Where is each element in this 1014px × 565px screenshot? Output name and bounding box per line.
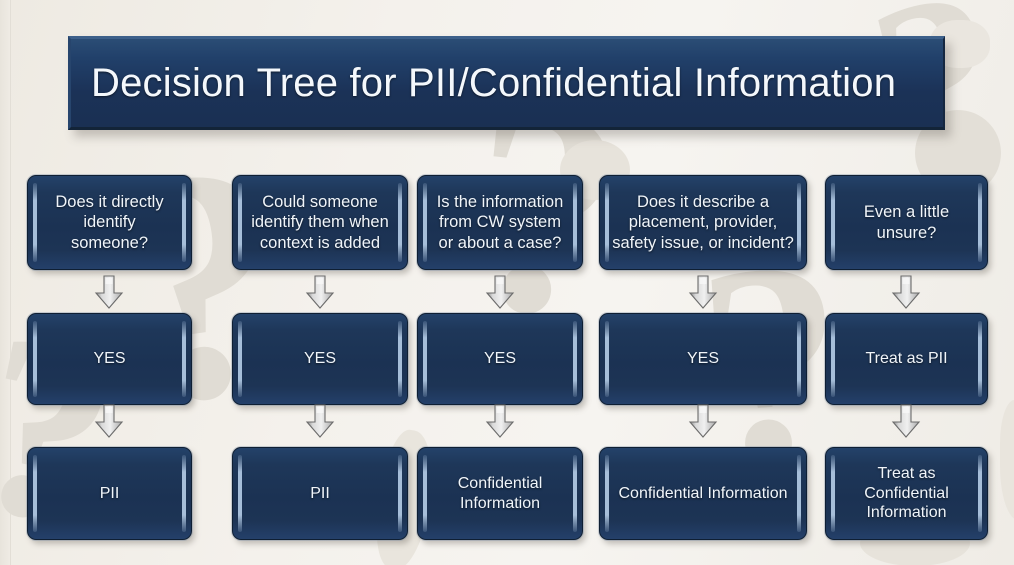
middle-box-col-5[interactable]: Treat as PII xyxy=(825,313,988,405)
question-box-col-1[interactable]: Does it directly identify someone? xyxy=(27,175,192,270)
question-label-col-5: Even a little unsure? xyxy=(852,202,961,242)
middle-label-col-5: Treat as PII xyxy=(853,349,959,369)
question-label-col-3: Is the information from CW system or abo… xyxy=(425,192,576,252)
outcome-box-col-2[interactable]: PII xyxy=(232,447,408,540)
middle-box-col-1[interactable]: YES xyxy=(27,313,192,405)
middle-box-col-3[interactable]: YES xyxy=(417,313,583,405)
slide-canvas: ? ? ? ? ? Decision Tree for PII/Confiden… xyxy=(0,0,1014,565)
outcome-box-col-3[interactable]: Confidential Information xyxy=(417,447,583,540)
down-arrow-icon xyxy=(891,275,921,309)
outcome-box-col-4[interactable]: Confidential Information xyxy=(599,447,807,540)
page-title: Decision Tree for PII/Confidential Infor… xyxy=(71,61,896,106)
middle-box-col-4[interactable]: YES xyxy=(599,313,807,405)
down-arrow-icon xyxy=(94,404,124,438)
down-arrow-icon xyxy=(94,275,124,309)
outcome-label-col-5: Treat as Confidential Information xyxy=(852,464,961,523)
down-arrow-icon xyxy=(485,275,515,309)
down-arrow-icon xyxy=(688,404,718,438)
outcome-label-col-3: Confidential Information xyxy=(446,474,555,513)
down-arrow-icon xyxy=(305,275,335,309)
middle-label-col-1: YES xyxy=(81,349,137,369)
down-arrow-icon xyxy=(485,404,515,438)
outcome-label-col-2: PII xyxy=(298,484,342,504)
middle-box-col-2[interactable]: YES xyxy=(232,313,408,405)
middle-label-col-2: YES xyxy=(292,349,348,369)
outcome-label-col-4: Confidential Information xyxy=(607,484,800,504)
question-box-col-5[interactable]: Even a little unsure? xyxy=(825,175,988,270)
slide-title-bar: Decision Tree for PII/Confidential Infor… xyxy=(68,36,945,130)
question-box-col-3[interactable]: Is the information from CW system or abo… xyxy=(417,175,583,270)
question-label-col-1: Does it directly identify someone? xyxy=(43,192,175,252)
down-arrow-icon xyxy=(305,404,335,438)
down-arrow-icon xyxy=(891,404,921,438)
down-arrow-icon xyxy=(688,275,718,309)
middle-label-col-4: YES xyxy=(675,349,731,369)
middle-label-col-3: YES xyxy=(472,349,528,369)
question-box-col-2[interactable]: Could someone identify them when context… xyxy=(232,175,408,270)
outcome-box-col-1[interactable]: PII xyxy=(27,447,192,540)
outcome-label-col-1: PII xyxy=(88,484,132,504)
question-label-col-2: Could someone identify them when context… xyxy=(239,192,401,252)
question-label-col-4: Does it describe a placement, provider, … xyxy=(600,192,806,252)
question-box-col-4[interactable]: Does it describe a placement, provider, … xyxy=(599,175,807,270)
outcome-box-col-5[interactable]: Treat as Confidential Information xyxy=(825,447,988,540)
